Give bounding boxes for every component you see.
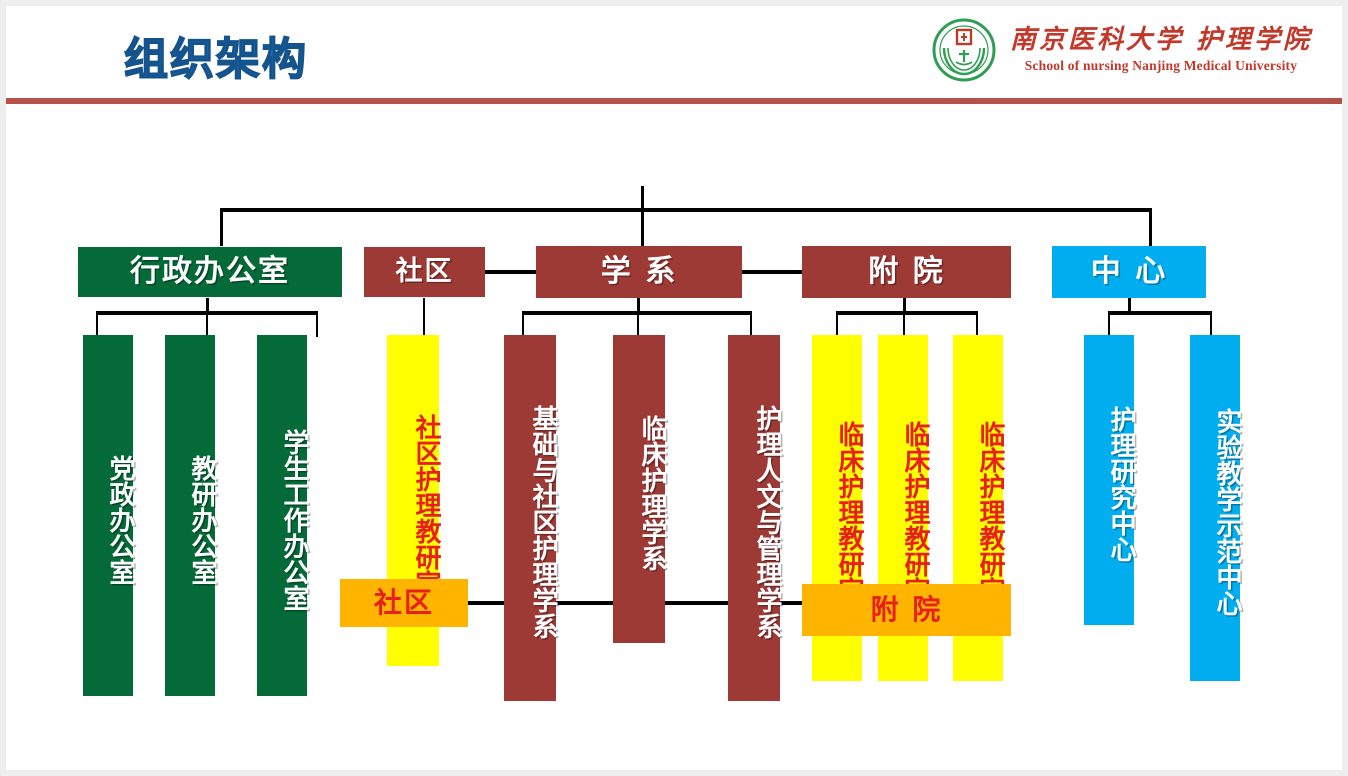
connector-level2-bus — [220, 208, 1152, 212]
connector-hospital-bus — [836, 311, 978, 315]
connector-drop-nursing-humanities — [750, 311, 752, 337]
node-affiliated-hospital[interactable]: 附 院 — [802, 246, 1011, 298]
node-teaching-research-office[interactable]: 教研办公室 — [165, 335, 215, 696]
footer-node-community[interactable]: 社区 — [340, 579, 468, 627]
node-basic-and-community-nursing-dept[interactable]: 基础与社区护理学系 — [504, 335, 556, 701]
node-community[interactable]: 社区 — [364, 247, 485, 297]
connector-drop-admin — [220, 208, 223, 246]
connector-drop-clinical-teaching-1 — [836, 311, 838, 337]
node-departments[interactable]: 学 系 — [536, 246, 742, 298]
institution-logo: 南京医科大学 护理学院 School of nursing Nanjing Me… — [932, 18, 1312, 82]
connector-drop-clinical-teaching-3 — [976, 311, 978, 337]
page-title: 组织架构 — [124, 38, 308, 82]
connector-root-stem — [641, 186, 644, 210]
connector-drop-party-office — [96, 311, 98, 337]
node-centers[interactable]: 中 心 — [1052, 246, 1206, 298]
connector-community-to-depts — [484, 270, 540, 274]
slide: 组织架构 南京医科大学 护理学院 School of nursing Nanji… — [0, 0, 1348, 776]
logo-english-name: School of nursing Nanjing Medical Univer… — [1025, 58, 1297, 73]
connector-drop-experimental-teaching-center — [1210, 311, 1212, 337]
connector-drop-depts — [641, 208, 644, 246]
node-party-affairs-office[interactable]: 党政办公室 — [83, 335, 133, 696]
node-student-work-office[interactable]: 学生工作办公室 — [257, 335, 307, 696]
node-nursing-research-center[interactable]: 护理研究中心 — [1084, 335, 1134, 625]
node-experimental-teaching-demo-center[interactable]: 实验教学示范中心 — [1190, 335, 1240, 681]
connector-centers-bus — [1108, 311, 1212, 315]
connector-drop-centers — [1149, 208, 1152, 246]
connector-drop-teaching-office — [206, 311, 208, 337]
node-admin-office[interactable]: 行政办公室 — [78, 247, 342, 297]
connector-drop-clinical-teaching-2 — [903, 311, 905, 337]
logo-chinese-name: 南京医科大学 护理学院 — [1010, 25, 1312, 55]
connector-drop-nursing-research-center — [1108, 311, 1110, 337]
connector-drop-basic-community-nursing — [522, 311, 524, 337]
university-seal-icon — [932, 18, 996, 82]
connector-drop-clinical-nursing — [637, 311, 639, 337]
logo-text-block: 南京医科大学 护理学院 School of nursing Nanjing Me… — [1010, 26, 1312, 74]
node-nursing-humanities-and-management-dept[interactable]: 护理人文与管理学系 — [728, 335, 780, 701]
connector-depts-to-hospital — [741, 270, 803, 274]
node-clinical-nursing-dept[interactable]: 临床护理学系 — [613, 335, 665, 643]
org-chart: 行政办公室 社区 学 系 附 院 中 心 党政办公室 教研办公室 学生工作办公室… — [0, 104, 1336, 764]
footer-node-affiliated-hospital[interactable]: 附 院 — [802, 584, 1011, 636]
connector-drop-student-office — [316, 311, 318, 337]
connector-community-stem — [423, 298, 425, 336]
